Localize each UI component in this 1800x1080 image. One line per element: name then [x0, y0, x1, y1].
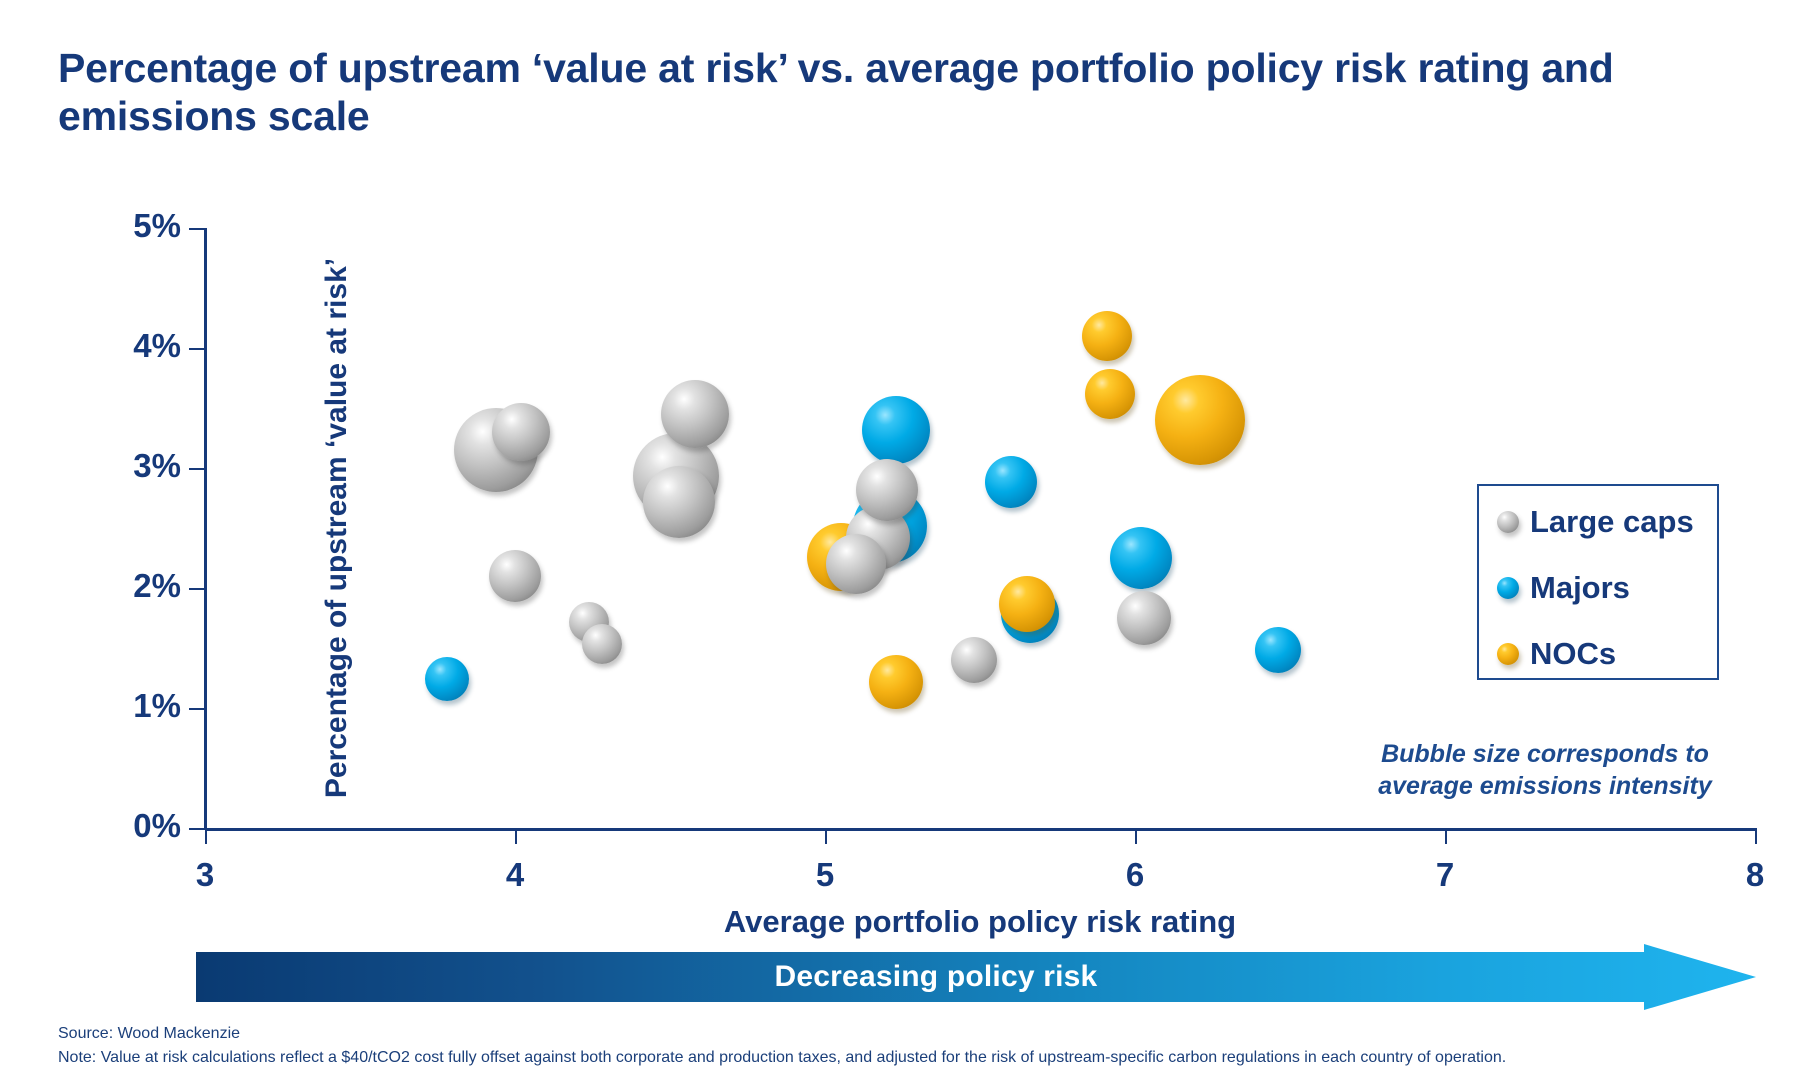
y-axis-line: [204, 228, 207, 830]
note-text: Note: Value at risk calculations reflect…: [58, 1046, 1758, 1070]
y-tick: [189, 588, 205, 590]
y-tick: [189, 828, 205, 830]
y-tick-label: 0%: [95, 807, 181, 845]
y-tick: [189, 348, 205, 350]
legend-item-nocs[interactable]: NOCs: [1497, 634, 1616, 674]
chart-legend[interactable]: Large capsMajorsNOCs: [1477, 484, 1719, 680]
slide-root: Percentage of upstream ‘value at risk’ v…: [0, 0, 1800, 1080]
x-tick: [1755, 828, 1757, 844]
bubble-point: [661, 380, 729, 448]
bubble-point: [1117, 591, 1171, 645]
bubble-point: [492, 403, 550, 461]
y-tick-label: 1%: [95, 687, 181, 725]
bubble-point: [856, 459, 918, 521]
y-axis-title: Percentage of upstream ‘value at risk’: [320, 218, 354, 838]
x-tick-label: 3: [165, 856, 245, 894]
bubble-point: [951, 637, 997, 683]
y-tick: [189, 228, 205, 230]
x-tick: [1135, 828, 1137, 844]
y-tick-label: 2%: [95, 567, 181, 605]
x-tick-label: 7: [1405, 856, 1485, 894]
legend-item-majors[interactable]: Majors: [1497, 568, 1630, 608]
x-tick: [515, 828, 517, 844]
bubble-point: [1085, 369, 1135, 419]
bubble-point: [489, 550, 541, 602]
x-tick-label: 8: [1715, 856, 1795, 894]
x-tick: [205, 828, 207, 844]
x-tick: [825, 828, 827, 844]
bubble-point: [985, 456, 1037, 508]
footnotes: Source: Wood Mackenzie Note: Value at ri…: [58, 1022, 1758, 1071]
bubble-point: [869, 655, 923, 709]
bubble-point: [1255, 627, 1301, 673]
arrow-shape-icon: [196, 944, 1756, 1010]
bubble-point: [582, 624, 622, 664]
bubble-point: [1082, 311, 1132, 361]
legend-bubble-icon: [1497, 511, 1519, 533]
bubble-point: [1155, 375, 1245, 465]
y-tick-label: 4%: [95, 327, 181, 365]
legend-item-label: NOCs: [1530, 636, 1616, 672]
bubble-size-note: Bubble size corresponds to average emiss…: [1360, 738, 1730, 802]
y-tick: [189, 468, 205, 470]
y-tick-label: 3%: [95, 447, 181, 485]
source-text: Source: Wood Mackenzie: [58, 1022, 1758, 1046]
legend-bubble-icon: [1497, 643, 1519, 665]
decreasing-policy-risk-banner: Decreasing policy risk: [196, 944, 1756, 1010]
bubble-point: [425, 657, 469, 701]
bubble-point: [999, 576, 1055, 632]
x-axis-title: Average portfolio policy risk rating: [205, 904, 1755, 940]
bubble-size-note-line1: Bubble size corresponds to: [1360, 738, 1730, 770]
legend-bubble-icon: [1497, 577, 1519, 599]
y-tick-label: 5%: [95, 207, 181, 245]
legend-item-label: Large caps: [1530, 504, 1694, 540]
bubble-point: [1110, 527, 1172, 589]
legend-item-large-caps[interactable]: Large caps: [1497, 502, 1694, 542]
bubble-point: [826, 534, 886, 594]
bubble-point: [643, 466, 715, 538]
x-tick-label: 4: [475, 856, 555, 894]
x-tick-label: 5: [785, 856, 865, 894]
y-tick: [189, 708, 205, 710]
page-title: Percentage of upstream ‘value at risk’ v…: [58, 44, 1738, 141]
x-axis-line: [205, 828, 1757, 831]
legend-item-label: Majors: [1530, 570, 1630, 606]
bubble-point: [862, 396, 930, 464]
x-tick: [1445, 828, 1447, 844]
bubble-size-note-line2: average emissions intensity: [1360, 770, 1730, 802]
x-tick-label: 6: [1095, 856, 1175, 894]
